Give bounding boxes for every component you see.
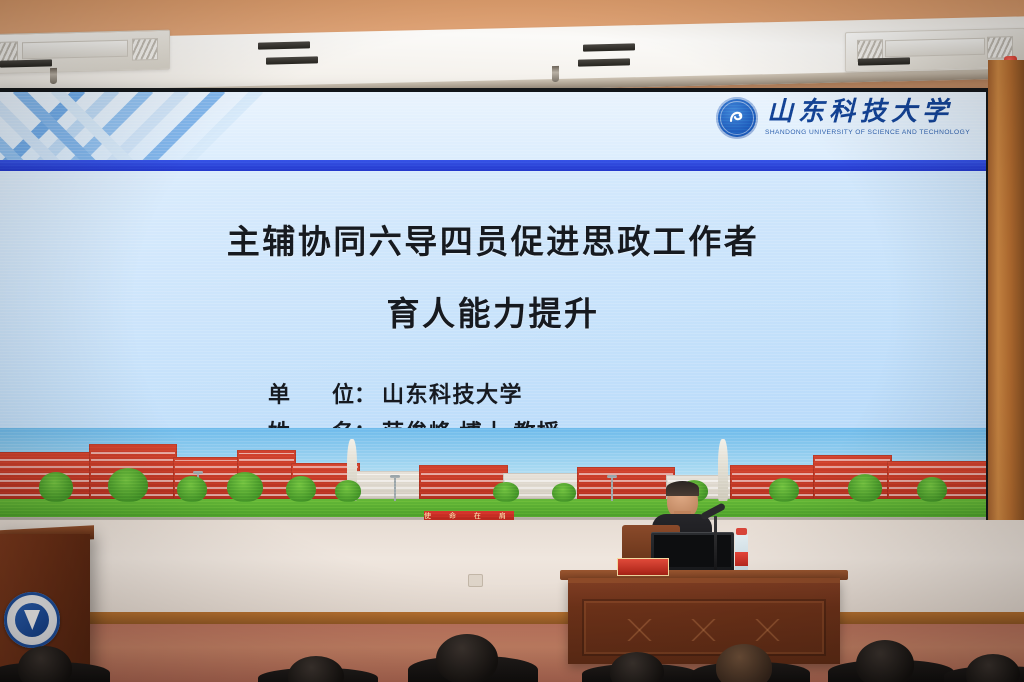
meta-value-organization: 山东科技大学 [382,377,523,409]
ac-unit-left-icon [0,30,170,75]
meta-colon: ： [354,377,376,409]
ceiling-vent-icon [578,58,630,66]
slide-title-line-1: 主辅协同六导四员促进思政工作者 [0,215,986,263]
audience-member [716,644,772,682]
slide-accent-bar [0,160,986,171]
downlight-icon [552,66,559,82]
presentation-slide: 山东科技大学 SHANDONG UNIVERSITY OF SCIENCE AN… [0,92,986,526]
university-logo: 山东科技大学 SHANDONG UNIVERSITY OF SCIENCE AN… [716,97,968,139]
audience-member [856,640,914,682]
water-bottle-label [735,552,748,566]
campus-statue-icon [718,439,728,501]
slide-body: 主辅协同六导四员促进思政工作者 育人能力提升 单 位 ： 山东科技大学 姓 名 [0,171,986,431]
water-bottle-cap [736,528,747,535]
meta-row-organization: 单 位 ： 山东科技大学 [268,377,986,409]
ceiling-vent-icon [583,43,635,51]
slide-title-line-2: 育人能力提升 [0,287,986,335]
ceiling-vent-icon [858,57,910,65]
audience-member [18,646,72,682]
presenter-desk [568,578,840,664]
ceiling-vent-icon [258,41,310,49]
university-seal-icon [716,97,758,139]
ceiling-vent-icon [266,56,318,64]
name-plate [617,558,669,576]
meta-key-a: 单 [268,377,290,409]
scene-root: 山东科技大学 SHANDONG UNIVERSITY OF SCIENCE AN… [0,0,1024,682]
presenter-hair [666,481,699,496]
wall-outlet-icon [468,574,483,587]
audience-member [436,634,498,682]
logo-english-name: SHANDONG UNIVERSITY OF SCIENCE AND TECHN… [765,130,970,137]
chevron-decoration-icon [0,92,330,160]
logo-chinese-name: 山东科技大学 [767,99,968,125]
meta-key-b: 位 [332,377,354,409]
ceiling-vent-icon [0,59,52,67]
desk-panel [582,599,826,656]
slide-header: 山东科技大学 SHANDONG UNIVERSITY OF SCIENCE AN… [0,92,986,160]
microphone-stand [714,516,717,572]
downlight-icon [50,68,57,84]
wall-wood-column [988,60,1024,560]
lectern-emblem-icon [4,592,60,648]
campus-panorama-photo: 使 命 在 肩 [0,428,986,526]
